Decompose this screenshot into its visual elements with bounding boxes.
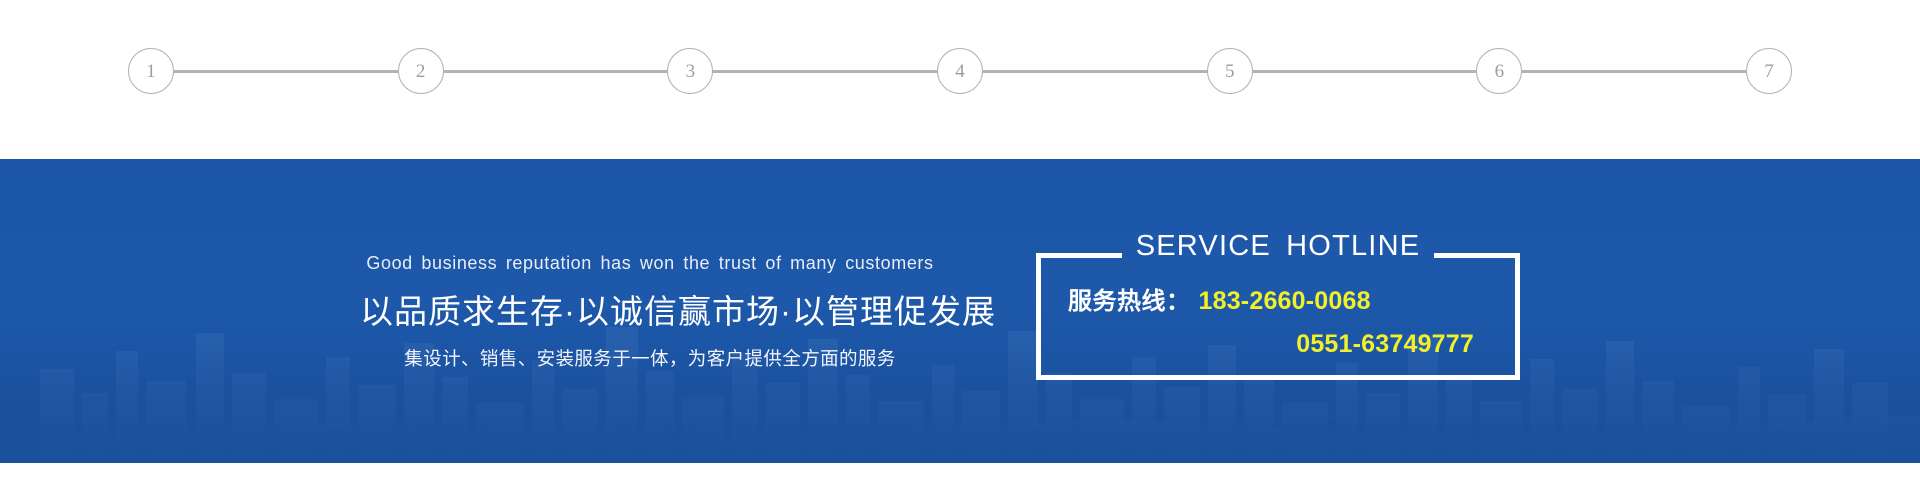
service-hotline-box: SERVICE HOTLINE 服务热线： 183-2660-0068 0551…: [1036, 253, 1520, 380]
page-root: 1 2 3 4 5 6 7: [0, 0, 1920, 500]
step-node-6[interactable]: 6: [1476, 48, 1522, 94]
hotline-number-primary[interactable]: 183-2660-0068: [1199, 283, 1371, 319]
step-connector-4-5: [982, 70, 1208, 73]
step-number-2: 2: [416, 62, 426, 81]
step-node-3[interactable]: 3: [667, 48, 713, 94]
step-connector-3-4: [712, 70, 938, 73]
step-node-1[interactable]: 1: [128, 48, 174, 94]
step-number-3: 3: [686, 62, 696, 81]
step-node-7[interactable]: 7: [1746, 48, 1792, 94]
step-number-7: 7: [1764, 62, 1774, 81]
step-connector-2-3: [443, 70, 669, 73]
slogan-block: Good business reputation has won the tru…: [360, 253, 940, 371]
hotline-row-primary: 服务热线： 183-2660-0068: [1068, 283, 1502, 320]
slogan-subline: 集设计、销售、安装服务于一体，为客户提供全方面的服务: [360, 347, 940, 371]
slogan-headline: 以品质求生存·以诚信赢市场·以管理促发展: [360, 291, 940, 332]
hotline-label: 服务热线：: [1068, 285, 1191, 320]
step-connector-6-7: [1521, 70, 1747, 73]
hotline-body: 服务热线： 183-2660-0068 0551-63749777: [1036, 283, 1520, 362]
hotline-number-secondary[interactable]: 0551-63749777: [1296, 326, 1474, 362]
step-connector-1-2: [173, 70, 399, 73]
step-number-1: 1: [146, 62, 156, 81]
step-node-2[interactable]: 2: [398, 48, 444, 94]
stepper: 1 2 3 4 5 6 7: [128, 48, 1792, 94]
hotline-row-secondary: 0551-63749777: [1068, 326, 1502, 362]
step-node-5[interactable]: 5: [1207, 48, 1253, 94]
banner-haze-overlay: [0, 343, 1920, 463]
promo-banner: Good business reputation has won the tru…: [0, 159, 1920, 463]
step-node-4[interactable]: 4: [937, 48, 983, 94]
step-number-6: 6: [1495, 62, 1505, 81]
step-connector-5-6: [1252, 70, 1478, 73]
stepper-band: 1 2 3 4 5 6 7: [0, 0, 1920, 159]
step-number-4: 4: [955, 62, 965, 81]
slogan-english: Good business reputation has won the tru…: [360, 253, 940, 275]
step-number-5: 5: [1225, 62, 1235, 81]
